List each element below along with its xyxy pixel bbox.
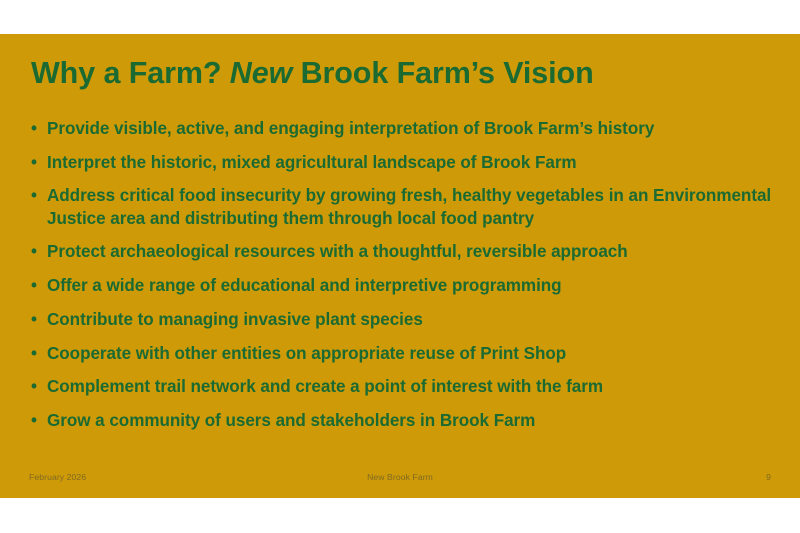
list-item-label: Interpret the historic, mixed agricultur… [47, 152, 778, 174]
page-title-emphasis: New [230, 56, 292, 90]
list-item: • Cooperate with other entities on appro… [30, 343, 778, 365]
footer-page-number: 9 [766, 470, 771, 484]
list-item-label: Provide visible, active, and engaging in… [47, 118, 778, 140]
list-item-label: Protect archaeological resources with a … [47, 241, 778, 263]
slide-body: Why a Farm? New Brook Farm’s Vision • Pr… [0, 34, 800, 498]
bullet-point-icon: • [31, 376, 37, 398]
list-item-label: Grow a community of users and stakeholde… [47, 410, 778, 432]
page-title: Why a Farm? New Brook Farm’s Vision [31, 56, 770, 90]
slide-footer: February 2026 New Brook Farm 9 [0, 470, 800, 484]
bullet-point-icon: • [31, 185, 37, 207]
presentation-slide-canvas: Why a Farm? New Brook Farm’s Vision • Pr… [0, 0, 800, 533]
bullet-point-icon: • [31, 309, 37, 331]
list-item: • Offer a wide range of educational and … [30, 275, 778, 297]
bullet-point-icon: • [31, 152, 37, 174]
bullet-point-icon: • [31, 275, 37, 297]
list-item-label: Cooperate with other entities on appropr… [47, 343, 778, 365]
list-item: • Address critical food insecurity by gr… [30, 185, 778, 229]
bullet-point-icon: • [31, 241, 37, 263]
page-title-part-one: Why a Farm? [31, 56, 230, 90]
list-item-label: Complement trail network and create a po… [47, 376, 778, 398]
bullet-point-icon: • [31, 118, 37, 140]
vision-bullet-list: • Provide visible, active, and engaging … [30, 118, 778, 432]
page-title-part-two: Brook Farm’s Vision [292, 56, 593, 90]
list-item-label: Offer a wide range of educational and in… [47, 275, 778, 297]
bullet-point-icon: • [31, 343, 37, 365]
list-item: • Complement trail network and create a … [30, 376, 778, 398]
list-item: • Grow a community of users and stakehol… [30, 410, 778, 432]
list-item: • Protect archaeological resources with … [30, 241, 778, 263]
list-item-label: Address critical food insecurity by grow… [47, 185, 778, 229]
bullet-point-icon: • [31, 410, 37, 432]
list-item: • Contribute to managing invasive plant … [30, 309, 778, 331]
list-item: • Interpret the historic, mixed agricult… [30, 152, 778, 174]
list-item-label: Contribute to managing invasive plant sp… [47, 309, 778, 331]
footer-project-name: New Brook Farm [0, 470, 800, 484]
list-item: • Provide visible, active, and engaging … [30, 118, 778, 140]
